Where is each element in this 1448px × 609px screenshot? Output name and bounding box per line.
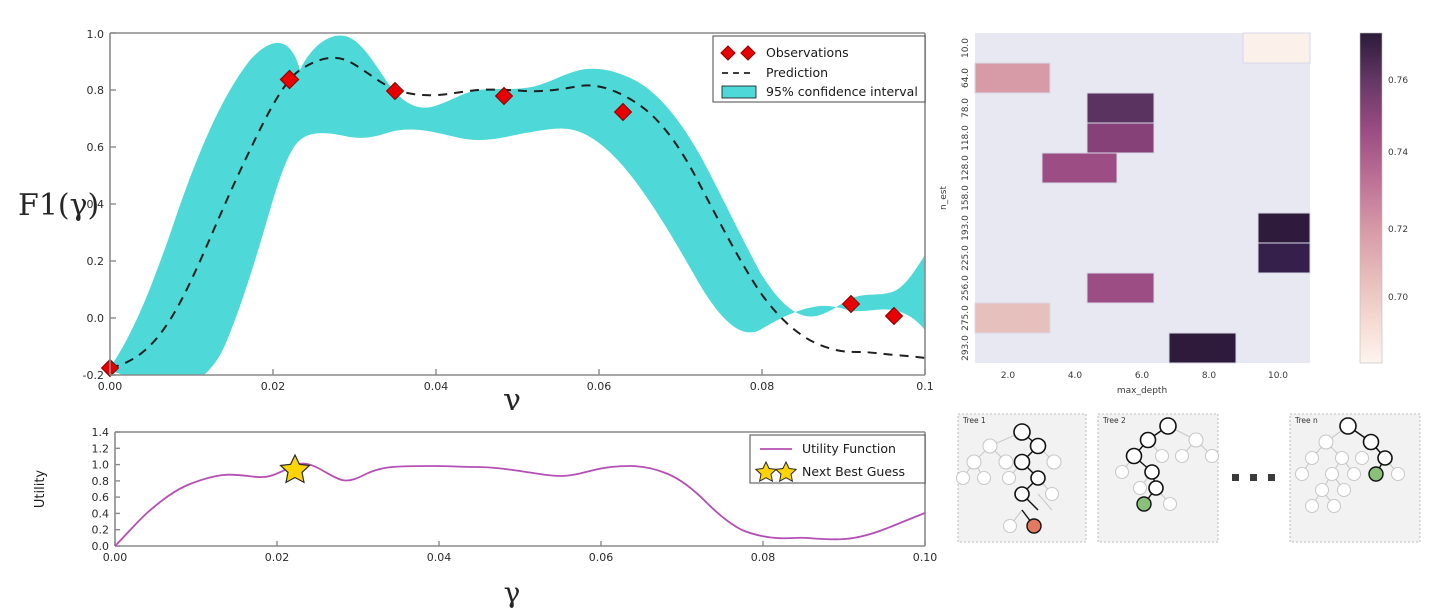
colorbar-tick-0: 0.70 xyxy=(1388,293,1408,303)
heatmap-x-axis-label: max_depth xyxy=(1117,386,1167,396)
utility-x-ticks: 0.00 0.02 0.04 0.06 0.08 0.10 xyxy=(103,551,938,564)
utility-panel: 0.0 0.2 0.4 0.6 0.8 1.0 1.2 1.4 0.00 0.0… xyxy=(0,412,950,609)
tree-n-label: Tree n xyxy=(1294,416,1318,425)
utility-ytick-2: 0.4 xyxy=(92,507,110,520)
utility-ytick-3: 0.6 xyxy=(92,491,110,504)
gp-ytick-1: 0.0 xyxy=(87,312,105,325)
legend-utility-label: Utility Function xyxy=(802,441,896,456)
utility-y-ticks: 0.0 0.2 0.4 0.6 0.8 1.0 1.2 1.4 xyxy=(92,426,110,553)
utility-ytick-7: 1.4 xyxy=(92,426,110,439)
tree-n-selected-leaf xyxy=(1369,467,1383,481)
gp-xtick-4: 0.08 xyxy=(750,380,775,393)
heatmap-colorbar: 0.76 0.74 0.72 0.70 xyxy=(1360,33,1408,363)
gp-ytick-4: 0.6 xyxy=(87,141,105,154)
gp-posterior-panel: -0.2 0.0 0.2 0.4 0.6 0.8 1.0 0.00 0.02 0… xyxy=(0,0,950,410)
heatmap-cell xyxy=(1042,153,1117,183)
next-best-guess-marker xyxy=(281,455,310,482)
tree-panel-n: Tree n xyxy=(1290,414,1420,542)
heatmap-cell xyxy=(975,303,1050,333)
utility-xtick-4: 0.08 xyxy=(751,551,776,564)
heatmap-xtick-0: 2.0 xyxy=(1001,371,1016,381)
heatmap-x-ticks: 2.0 4.0 6.0 8.0 10.0 xyxy=(1001,371,1288,381)
heatmap-cell xyxy=(1087,273,1154,303)
heatmap-xtick-1: 4.0 xyxy=(1068,371,1083,381)
gp-xtick-0: 0.00 xyxy=(98,380,123,393)
utility-legend: Utility Function Next Best Guess xyxy=(750,435,925,483)
utility-y-axis-label: Utility xyxy=(33,470,48,509)
tree-1-selected-leaf xyxy=(1027,519,1041,533)
utility-ytick-6: 1.2 xyxy=(92,442,110,455)
legend-prediction-label: Prediction xyxy=(766,65,828,80)
heatmap-ytick-9: 275.0 xyxy=(961,305,971,331)
utility-xtick-3: 0.06 xyxy=(589,551,614,564)
legend-observations-label: Observations xyxy=(766,45,849,60)
gp-ytick-5: 0.8 xyxy=(87,84,105,97)
heatmap-ytick-1: 64.0 xyxy=(961,68,971,88)
heatmap-ytick-2: 78.0 xyxy=(961,98,971,118)
colorbar-tick-1: 0.72 xyxy=(1388,225,1408,235)
gp-ytick-6: 1.0 xyxy=(87,28,105,41)
colorbar-tick-3: 0.76 xyxy=(1388,76,1408,86)
heatmap-ytick-7: 225.0 xyxy=(961,245,971,271)
heatmap-xtick-2: 6.0 xyxy=(1135,371,1150,381)
heatmap-cell xyxy=(1169,333,1236,363)
heatmap-xtick-3: 8.0 xyxy=(1202,371,1217,381)
heatmap-cell xyxy=(1258,243,1310,273)
forest-panel: Tree 1 Tree 2 xyxy=(930,400,1448,609)
heatmap-ytick-0: 10.0 xyxy=(961,38,971,58)
legend-next-guess-label: Next Best Guess xyxy=(802,464,905,479)
legend-ci-icon xyxy=(722,86,756,98)
heatmap-cell xyxy=(1243,33,1310,63)
gp-xtick-1: 0.02 xyxy=(261,380,286,393)
tree-panel-2: Tree 2 xyxy=(1098,414,1219,542)
utility-x-axis-label: γ xyxy=(504,576,521,609)
gp-xtick-3: 0.06 xyxy=(587,380,612,393)
heatmap-ytick-6: 193.0 xyxy=(961,215,971,241)
heatmap-cell xyxy=(1258,213,1310,243)
utility-ytick-1: 0.2 xyxy=(92,524,110,537)
heatmap-ytick-8: 256.0 xyxy=(961,275,971,301)
heatmap-y-axis-label: n_est xyxy=(939,186,949,210)
heatmap-panel: 10.0 64.0 78.0 118.0 128.0 158.0 193.0 2… xyxy=(930,0,1448,400)
heatmap-ytick-4: 128.0 xyxy=(961,155,971,181)
utility-xtick-2: 0.04 xyxy=(427,551,452,564)
heatmap-cell xyxy=(1087,93,1154,123)
heatmap-xtick-4: 10.0 xyxy=(1268,371,1288,381)
utility-ytick-4: 0.8 xyxy=(92,475,110,488)
tree-panel-1: Tree 1 xyxy=(957,414,1087,542)
gp-ytick-2: 0.2 xyxy=(87,255,105,268)
gp-y-axis-label: F1(γ) xyxy=(18,188,99,223)
tree-2-selected-leaf xyxy=(1137,497,1151,511)
heatmap-y-ticks: 10.0 64.0 78.0 118.0 128.0 158.0 193.0 2… xyxy=(961,38,971,361)
heatmap-ytick-5: 158.0 xyxy=(961,185,971,211)
heatmap-cell xyxy=(975,63,1050,93)
utility-xtick-1: 0.02 xyxy=(265,551,290,564)
gp-xtick-2: 0.04 xyxy=(424,380,449,393)
gp-x-axis-label: γ xyxy=(503,383,521,410)
heatmap-ytick-3: 118.0 xyxy=(961,125,971,151)
tree-2-label: Tree 2 xyxy=(1102,416,1126,425)
utility-ytick-5: 1.0 xyxy=(92,459,110,472)
heatmap-ytick-10: 293.0 xyxy=(961,335,971,361)
forest-ellipsis xyxy=(1232,474,1275,481)
gp-legend: Observations Prediction 95% confidence i… xyxy=(713,36,925,102)
tree-1-label: Tree 1 xyxy=(962,416,986,425)
colorbar-tick-2: 0.74 xyxy=(1388,148,1408,158)
heatmap-cell xyxy=(1087,123,1154,153)
legend-ci-label: 95% confidence interval xyxy=(766,84,918,99)
utility-xtick-0: 0.00 xyxy=(103,551,128,564)
